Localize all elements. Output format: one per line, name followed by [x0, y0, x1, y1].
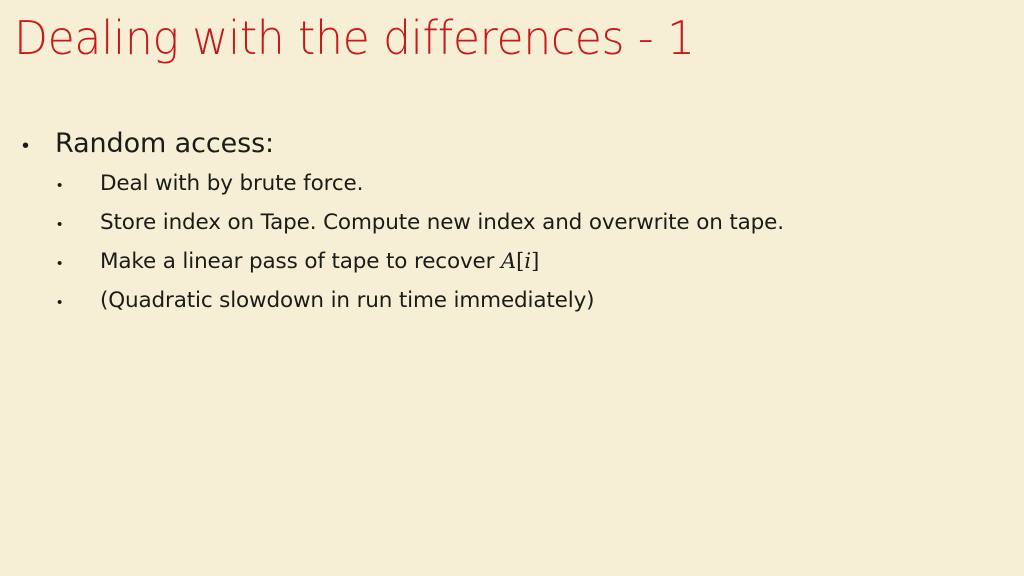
- list-item-label: Make a linear pass of tape to recover A[…: [100, 242, 539, 281]
- list-item[interactable]: • Store index on Tape. Compute new index…: [0, 203, 1010, 242]
- list-item[interactable]: • (Quadratic slowdown in run time immedi…: [0, 281, 1010, 320]
- list-item[interactable]: • Make a linear pass of tape to recover …: [0, 242, 1010, 281]
- list-item-label: Deal with by brute force.: [100, 164, 363, 203]
- bullet-point-icon: •: [57, 244, 100, 283]
- page-title: Dealing with the differences - 1: [14, 8, 936, 68]
- list-item-label: Random access:: [55, 124, 274, 164]
- list-item[interactable]: • Random access:: [0, 124, 1010, 164]
- content-bullet-list: • Random access: • Deal with by brute fo…: [0, 124, 1010, 320]
- bullet-point-icon: •: [57, 166, 100, 205]
- bullet-point-icon: •: [57, 283, 100, 322]
- math-variable: A: [501, 249, 516, 273]
- slide-canvas: Dealing with the differences - 1 • Rando…: [0, 0, 1024, 576]
- bullet-point-icon: •: [57, 205, 100, 244]
- bullet-point-icon: •: [22, 126, 55, 166]
- list-item-label: (Quadratic slowdown in run time immediat…: [100, 281, 594, 320]
- list-item-label: Store index on Tape. Compute new index a…: [100, 203, 784, 242]
- math-expression: A[i]: [501, 249, 539, 273]
- math-close-bracket: ]: [531, 249, 539, 273]
- list-item-text: Make a linear pass of tape to recover: [100, 249, 501, 274]
- list-item[interactable]: • Deal with by brute force.: [0, 164, 1010, 203]
